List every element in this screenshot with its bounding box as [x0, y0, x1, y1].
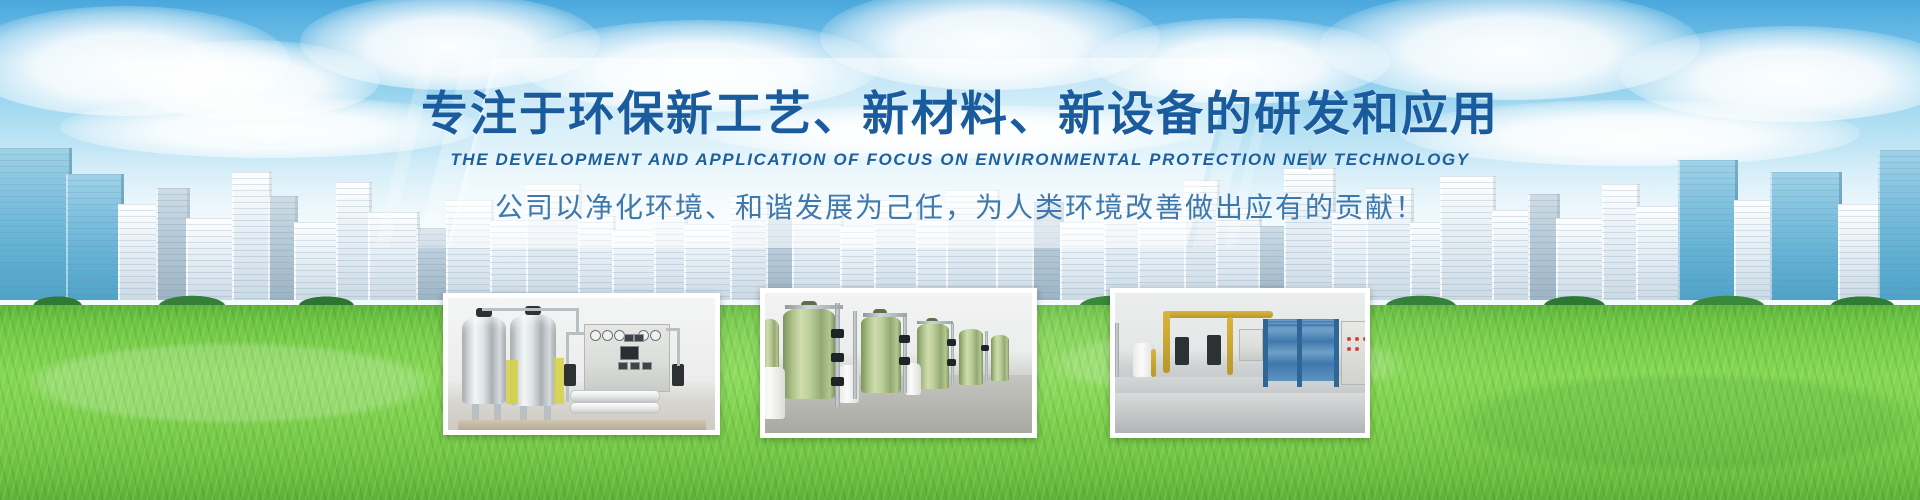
banner-tagline-cn: 公司以净化环境、和谐发展为己任，为人类环境改善做出应有的贡献！ — [0, 186, 1920, 226]
reverse-osmosis-skid-photo[interactable] — [443, 293, 720, 435]
hero-banner: 专注于环保新工艺、新材料、新设备的研发和应用 THE DEVELOPMENT A… — [0, 0, 1920, 500]
banner-headline: 专注于环保新工艺、新材料、新设备的研发和应用 — [0, 86, 1920, 141]
industrial-ro-plant-photo[interactable] — [1110, 288, 1370, 438]
banner-text-block: 专注于环保新工艺、新材料、新设备的研发和应用 THE DEVELOPMENT A… — [0, 86, 1920, 226]
frp-filter-vessels-photo[interactable] — [760, 288, 1037, 438]
banner-subtitle-en: THE DEVELOPMENT AND APPLICATION OF FOCUS… — [0, 150, 1920, 170]
product-photo-strip — [0, 293, 1920, 443]
